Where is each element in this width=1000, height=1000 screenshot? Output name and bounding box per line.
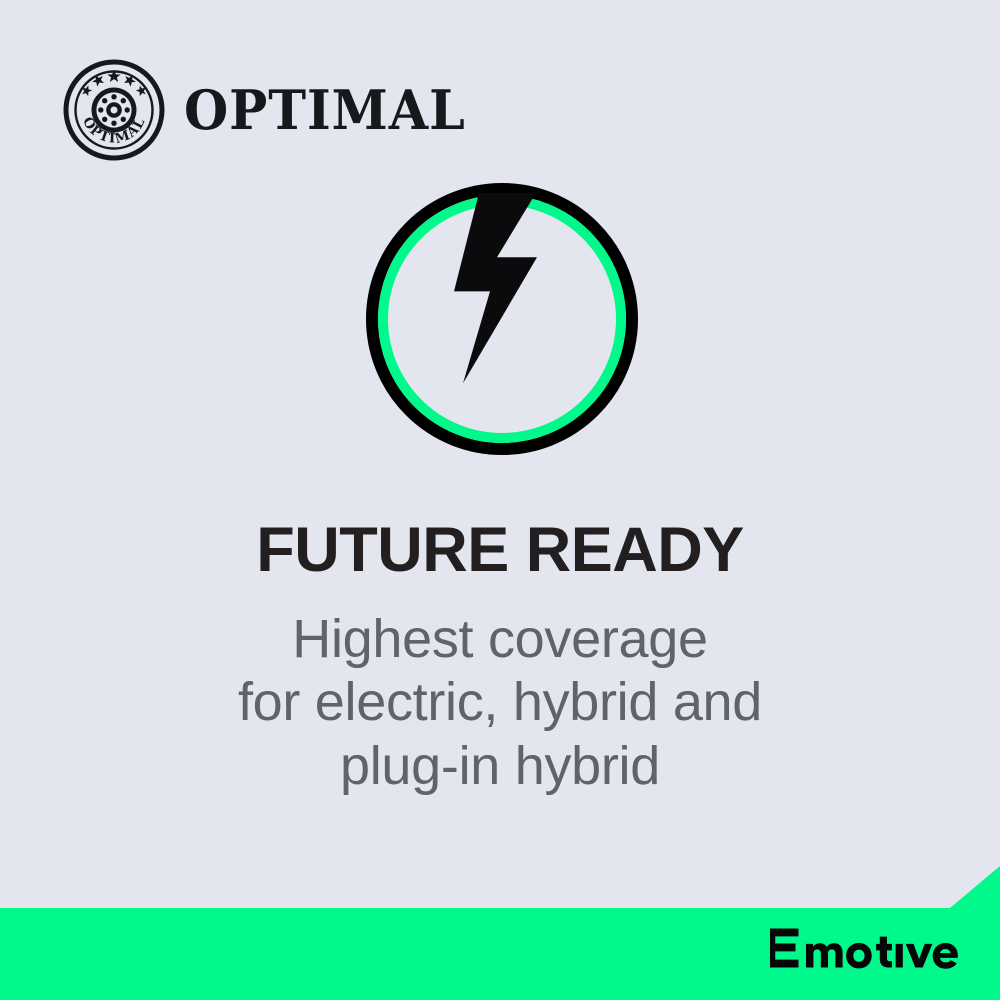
bearing-hub-icon (92, 88, 137, 133)
subtitle-line-1: Highest coverage (0, 608, 1000, 671)
emotive-logo-icon (770, 927, 967, 969)
brand-wordmark: OPTIMAL (184, 83, 466, 137)
page-title: FUTURE READY (0, 518, 1000, 582)
subtitle-line-3: plug-in hybrid (0, 735, 1000, 798)
copy-block: FUTURE READY Highest coverage for electr… (0, 518, 1000, 798)
subtitle: Highest coverage for electric, hybrid an… (0, 608, 1000, 798)
emotive-wordmark-glyph (770, 927, 967, 969)
hero-icon (366, 183, 638, 455)
lightning-bolt-in-circle-icon (366, 183, 638, 455)
optimal-bearing-seal-icon: OPTIMAL (62, 58, 166, 162)
brand-lockup: OPTIMAL OPTIMAL (62, 58, 484, 162)
subtitle-line-2: for electric, hybrid and (0, 671, 1000, 734)
social-promo-card: OPTIMAL OPTIMAL (0, 0, 1000, 1000)
